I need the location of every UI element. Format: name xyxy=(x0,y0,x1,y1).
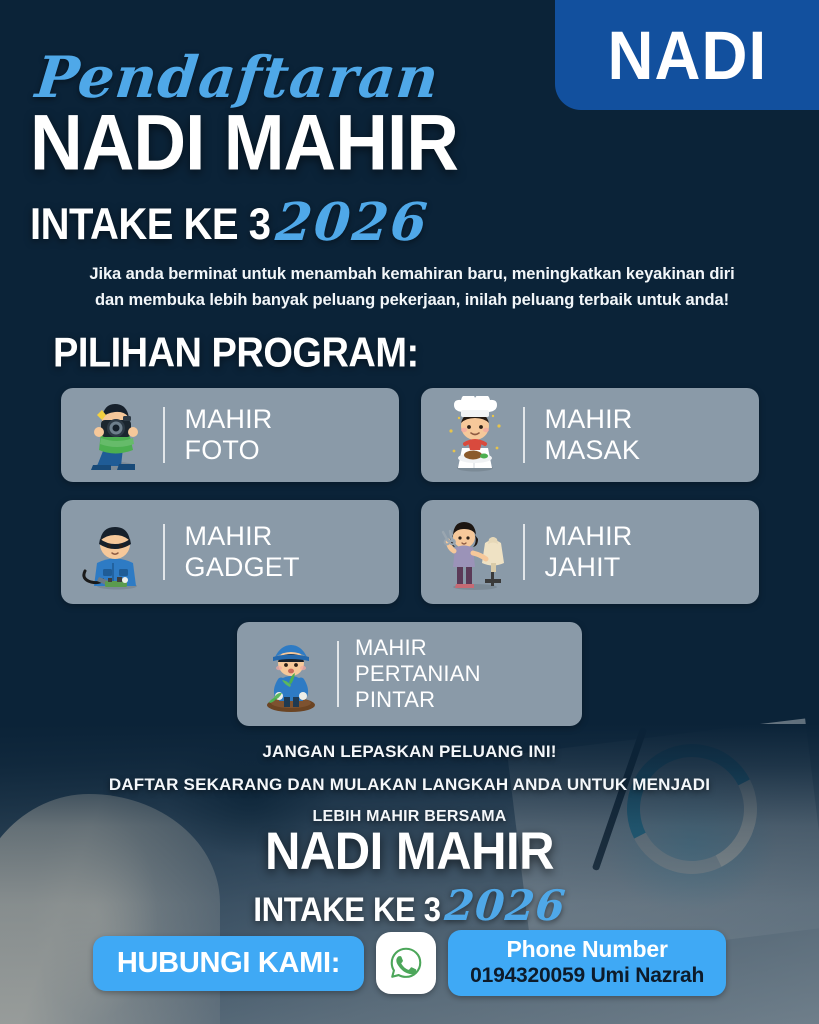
program-card-row-2: MAHIR GADGET xyxy=(0,500,819,604)
footer-year: 2026 xyxy=(443,881,568,930)
intro-line-2: dan membuka lebih banyak peluang pekerja… xyxy=(22,288,802,314)
headline-year: 2026 xyxy=(274,192,432,253)
phone-title: Phone Number xyxy=(470,936,704,963)
main-headline: Pendaftaran NADI MAHIR INTAKE KE 3 2026 xyxy=(30,44,630,253)
program-card-mahir-gadget[interactable]: MAHIR GADGET xyxy=(61,500,399,604)
call-to-action: JANGAN LEPASKAN PELUANG INI! DAFTAR SEKA… xyxy=(0,742,819,826)
program-label: MAHIR JAHIT xyxy=(545,521,633,583)
photographer-icon xyxy=(75,396,155,474)
intro-line-1: Jika anda berminat untuk menambah kemahi… xyxy=(22,262,802,288)
tailor-icon xyxy=(435,513,515,591)
footer-headline-title: NADI MAHIR xyxy=(0,826,819,879)
footer-headline: NADI MAHIR INTAKE KE 3 2026 xyxy=(0,828,819,930)
footer-intake-label: INTAKE KE 3 xyxy=(253,890,440,930)
cta-line-2: DAFTAR SEKARANG DAN MULAKAN LANGKAH ANDA… xyxy=(0,775,819,795)
cta-line-1: JANGAN LEPASKAN PELUANG INI! xyxy=(0,742,819,762)
technician-icon xyxy=(75,513,155,591)
whatsapp-icon[interactable] xyxy=(376,932,436,994)
contact-cta-label: HUBUNGI KAMI: xyxy=(93,936,364,991)
contact-bar: HUBUNGI KAMI: Phone Number 0194320059 Um… xyxy=(0,930,819,996)
intro-paragraph: Jika anda berminat untuk menambah kemahi… xyxy=(22,262,802,313)
phone-info[interactable]: Phone Number 0194320059 Umi Nazrah xyxy=(448,930,726,996)
headline-title: NADI MAHIR xyxy=(30,107,630,180)
program-label: MAHIR FOTO xyxy=(185,404,273,466)
card-divider xyxy=(163,407,165,463)
card-divider xyxy=(163,524,165,580)
program-label: MAHIR PERTANIAN PINTAR xyxy=(355,635,481,713)
chef-icon xyxy=(435,396,515,474)
programs-heading: PILIHAN PROGRAM: xyxy=(53,330,419,377)
program-card-mahir-foto[interactable]: MAHIR FOTO xyxy=(61,388,399,482)
headline-intake-label: INTAKE KE 3 xyxy=(30,200,270,250)
headline-intake-row: INTAKE KE 3 2026 xyxy=(30,192,630,253)
program-label: MAHIR MASAK xyxy=(545,404,641,466)
card-divider xyxy=(337,641,339,707)
program-card-mahir-jahit[interactable]: MAHIR JAHIT xyxy=(421,500,759,604)
program-label: MAHIR GADGET xyxy=(185,521,300,583)
card-divider xyxy=(523,524,525,580)
footer-headline-intake-row: INTAKE KE 3 2026 xyxy=(0,881,819,930)
program-card-mahir-masak[interactable]: MAHIR MASAK xyxy=(421,388,759,482)
farmer-icon xyxy=(251,635,331,713)
program-card-row-1: MAHIR FOTO xyxy=(0,388,819,482)
poster-canvas: NADI Pendaftaran NADI MAHIR INTAKE KE 3 … xyxy=(0,0,819,1024)
phone-value: 0194320059 Umi Nazrah xyxy=(470,963,704,988)
program-card-mahir-pertanian-pintar[interactable]: MAHIR PERTANIAN PINTAR xyxy=(237,622,582,726)
program-card-row-3: MAHIR PERTANIAN PINTAR xyxy=(0,622,819,726)
card-divider xyxy=(523,407,525,463)
program-card-grid: MAHIR FOTO xyxy=(0,388,819,744)
